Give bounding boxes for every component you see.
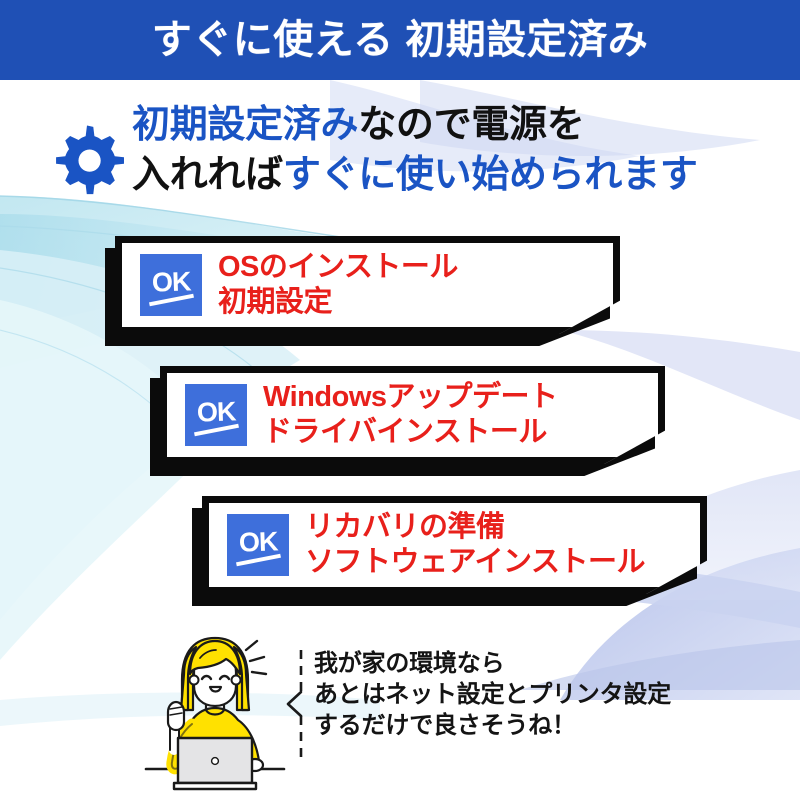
headline-line1-highlight: 初期設定済み xyxy=(132,104,358,146)
headline-line2-highlight: すぐに使い始められます xyxy=(283,154,698,196)
ok-badge-label: OK xyxy=(151,268,190,296)
speech-lines: 我が家の環境なら あとはネット設定とプリンタ設定 するだけで良さそうね！ xyxy=(308,648,671,765)
card-line-1: OSのインストール xyxy=(218,250,607,285)
headline-line-2: 入れればすぐに使い始められます xyxy=(132,150,764,200)
woman-at-laptop-illustration xyxy=(140,628,290,793)
feature-card-os-install[interactable]: OK OSのインストール 初期設定 xyxy=(115,236,620,334)
ear-right xyxy=(232,676,241,685)
excitement-lines-icon xyxy=(246,641,266,674)
fist xyxy=(168,702,184,730)
ok-badge-label: OK xyxy=(238,528,277,556)
headline-line-1: 初期設定済みなので電源を xyxy=(132,100,764,150)
speech-line-3: するだけで良さそうね！ xyxy=(314,710,671,741)
card-line-2: ドライバインストール xyxy=(263,415,652,450)
card-body: OK OSのインストール 初期設定 xyxy=(115,236,620,334)
gear-icon xyxy=(50,121,124,195)
card-body: OK リカバリの準備 ソフトウェアインストール xyxy=(202,496,707,594)
ear-left xyxy=(190,676,199,685)
laptop-base xyxy=(174,783,256,789)
infographic-page: すぐに使える 初期設定済み 初期設定済みなので電源を 入れればすぐに使い始められ… xyxy=(0,0,800,800)
header-title: すぐに使える 初期設定済み xyxy=(152,20,648,60)
card-line-2: 初期設定 xyxy=(218,285,607,320)
card-body: OK Windowsアップデート ドライバインストール xyxy=(160,366,665,464)
card-line-1: Windowsアップデート xyxy=(263,380,652,415)
feature-card-windows-update[interactable]: OK Windowsアップデート ドライバインストール xyxy=(160,366,665,464)
ok-badge-label: OK xyxy=(196,398,235,426)
headline-block: 初期設定済みなので電源を 入れればすぐに使い始められます xyxy=(44,100,764,210)
header-banner: すぐに使える 初期設定済み xyxy=(0,0,800,80)
card-text-lines: OSのインストール 初期設定 xyxy=(218,250,613,320)
card-line-1: リカバリの準備 xyxy=(305,510,694,545)
speech-line-2: あとはネット設定とプリンタ設定 xyxy=(314,679,671,710)
gear-icon-wrapper xyxy=(44,100,130,210)
mouth xyxy=(210,687,221,692)
speech-bracket xyxy=(286,648,308,765)
card-text-lines: リカバリの準備 ソフトウェアインストール xyxy=(305,510,700,580)
card-text-lines: Windowsアップデート ドライバインストール xyxy=(263,380,658,450)
ok-badge-icon: OK xyxy=(140,254,202,316)
speech-block: 我が家の環境なら あとはネット設定とプリンタ設定 するだけで良さそうね！ xyxy=(286,648,671,765)
card-line-2: ソフトウェアインストール xyxy=(305,545,694,580)
ok-badge-icon: OK xyxy=(227,514,289,576)
ok-badge-icon: OK xyxy=(185,384,247,446)
headline-text: 初期設定済みなので電源を 入れればすぐに使い始められます xyxy=(130,100,764,200)
laptop-logo xyxy=(212,758,219,765)
headline-line1-rest: なので電源を xyxy=(358,104,584,146)
feature-card-recovery-software[interactable]: OK リカバリの準備 ソフトウェアインストール xyxy=(202,496,707,594)
headline-line2-rest: 入れれば xyxy=(132,154,283,196)
speech-bracket-icon xyxy=(286,648,308,760)
speech-line-1: 我が家の環境なら xyxy=(314,648,671,679)
